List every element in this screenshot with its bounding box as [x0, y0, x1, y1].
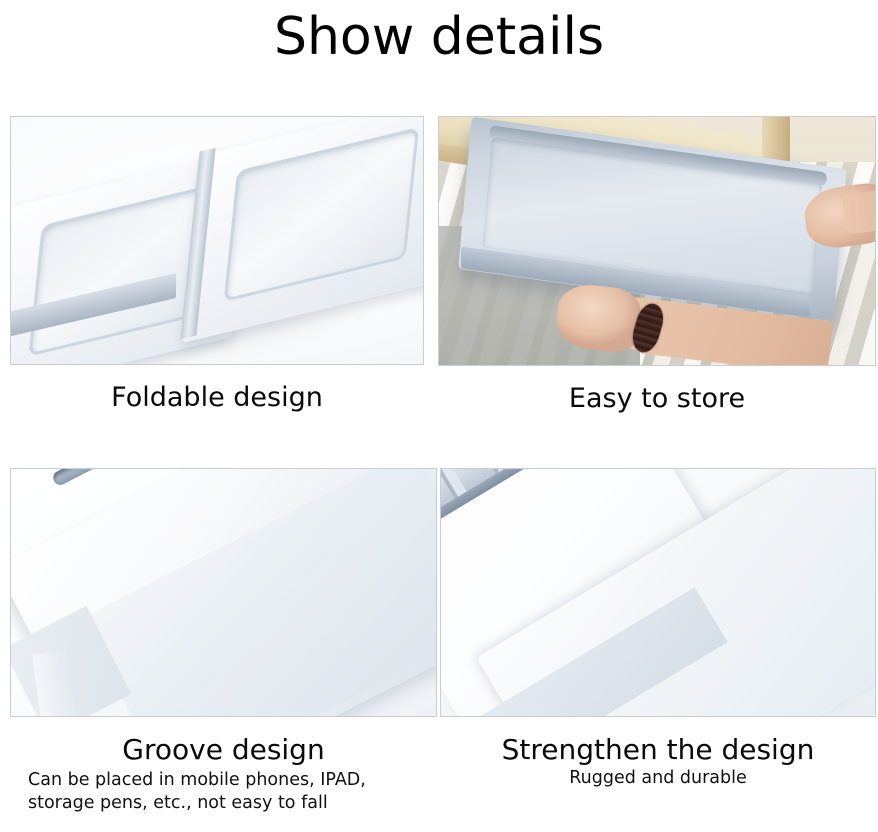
right-forearm [843, 188, 876, 234]
tray-right-well [224, 127, 419, 302]
feature-subcaption-line: Can be placed in mobile phones, IPAD, [10, 769, 437, 792]
product-photo-foldable-design [10, 116, 424, 365]
feature-subcaption-group: Can be placed in mobile phones, IPAD, st… [10, 769, 437, 815]
feature-card-strengthen-the-design: Strengthen the design Rugged and durable [440, 468, 876, 790]
feature-subcaption: Rugged and durable [440, 767, 876, 790]
feature-caption: Foldable design [10, 381, 424, 415]
product-photo-easy-to-store [438, 116, 876, 366]
feature-caption: Strengthen the design [440, 733, 876, 767]
feature-card-groove-design: Groove design Can be placed in mobile ph… [10, 468, 437, 815]
feature-card-easy-to-store: Easy to store [438, 116, 876, 416]
feature-caption: Easy to store [438, 382, 876, 416]
product-detail-image: Show details Foldable design [0, 0, 878, 831]
page-title: Show details [0, 2, 878, 72]
feature-subcaption-line: storage pens, etc., not easy to fall [10, 792, 437, 815]
product-photo-strengthen-the-design [440, 468, 876, 717]
feature-caption: Groove design [10, 733, 437, 767]
feature-card-foldable-design: Foldable design [10, 116, 424, 415]
product-photo-groove-design [10, 468, 437, 717]
feature-grid: Foldable design Easy to s [0, 112, 878, 832]
